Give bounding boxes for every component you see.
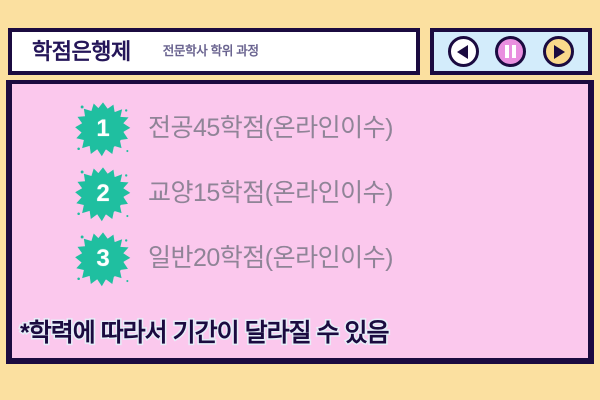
media-controls-panel — [430, 28, 592, 75]
top-margin-band — [0, 0, 600, 28]
list-item: 3 일반20학점(온라인이수) — [12, 226, 588, 291]
splat-badge-icon: 2 — [74, 165, 132, 223]
page-title: 학점은행제 — [32, 41, 131, 63]
pause-button[interactable] — [495, 36, 526, 67]
footnote: *학력에 따라서 기간이 달라질 수 있음 — [20, 321, 388, 346]
list-item-label: 일반20학점(온라인이수) — [148, 246, 393, 271]
splat-badge-icon: 1 — [74, 100, 132, 158]
triangle-left-icon — [457, 45, 468, 59]
list-item-number: 1 — [74, 100, 132, 158]
list-item: 2 교양15학점(온라인이수) — [12, 161, 588, 226]
bottom-margin-band — [0, 364, 600, 400]
list-item-label: 교양15학점(온라인이수) — [148, 181, 393, 206]
page-subtitle: 전문학사 학위 과정 — [163, 45, 259, 58]
content-panel: 1 전공45학점(온라인이수) 2 교양15학점(온라인이수) — [6, 80, 594, 364]
next-button[interactable] — [543, 36, 574, 67]
list-item-number: 3 — [74, 230, 132, 288]
previous-button[interactable] — [448, 36, 479, 67]
credit-requirement-list: 1 전공45학점(온라인이수) 2 교양15학점(온라인이수) — [12, 96, 588, 291]
title-box: 학점은행제 전문학사 학위 과정 — [8, 28, 420, 75]
list-item-number: 2 — [74, 165, 132, 223]
slide-canvas: 학점은행제 전문학사 학위 과정 — [0, 0, 600, 400]
list-item: 1 전공45학점(온라인이수) — [12, 96, 588, 161]
triangle-right-icon — [554, 45, 565, 59]
list-item-label: 전공45학점(온라인이수) — [148, 116, 393, 141]
pause-bars-icon — [505, 45, 516, 58]
splat-badge-icon: 3 — [74, 230, 132, 288]
